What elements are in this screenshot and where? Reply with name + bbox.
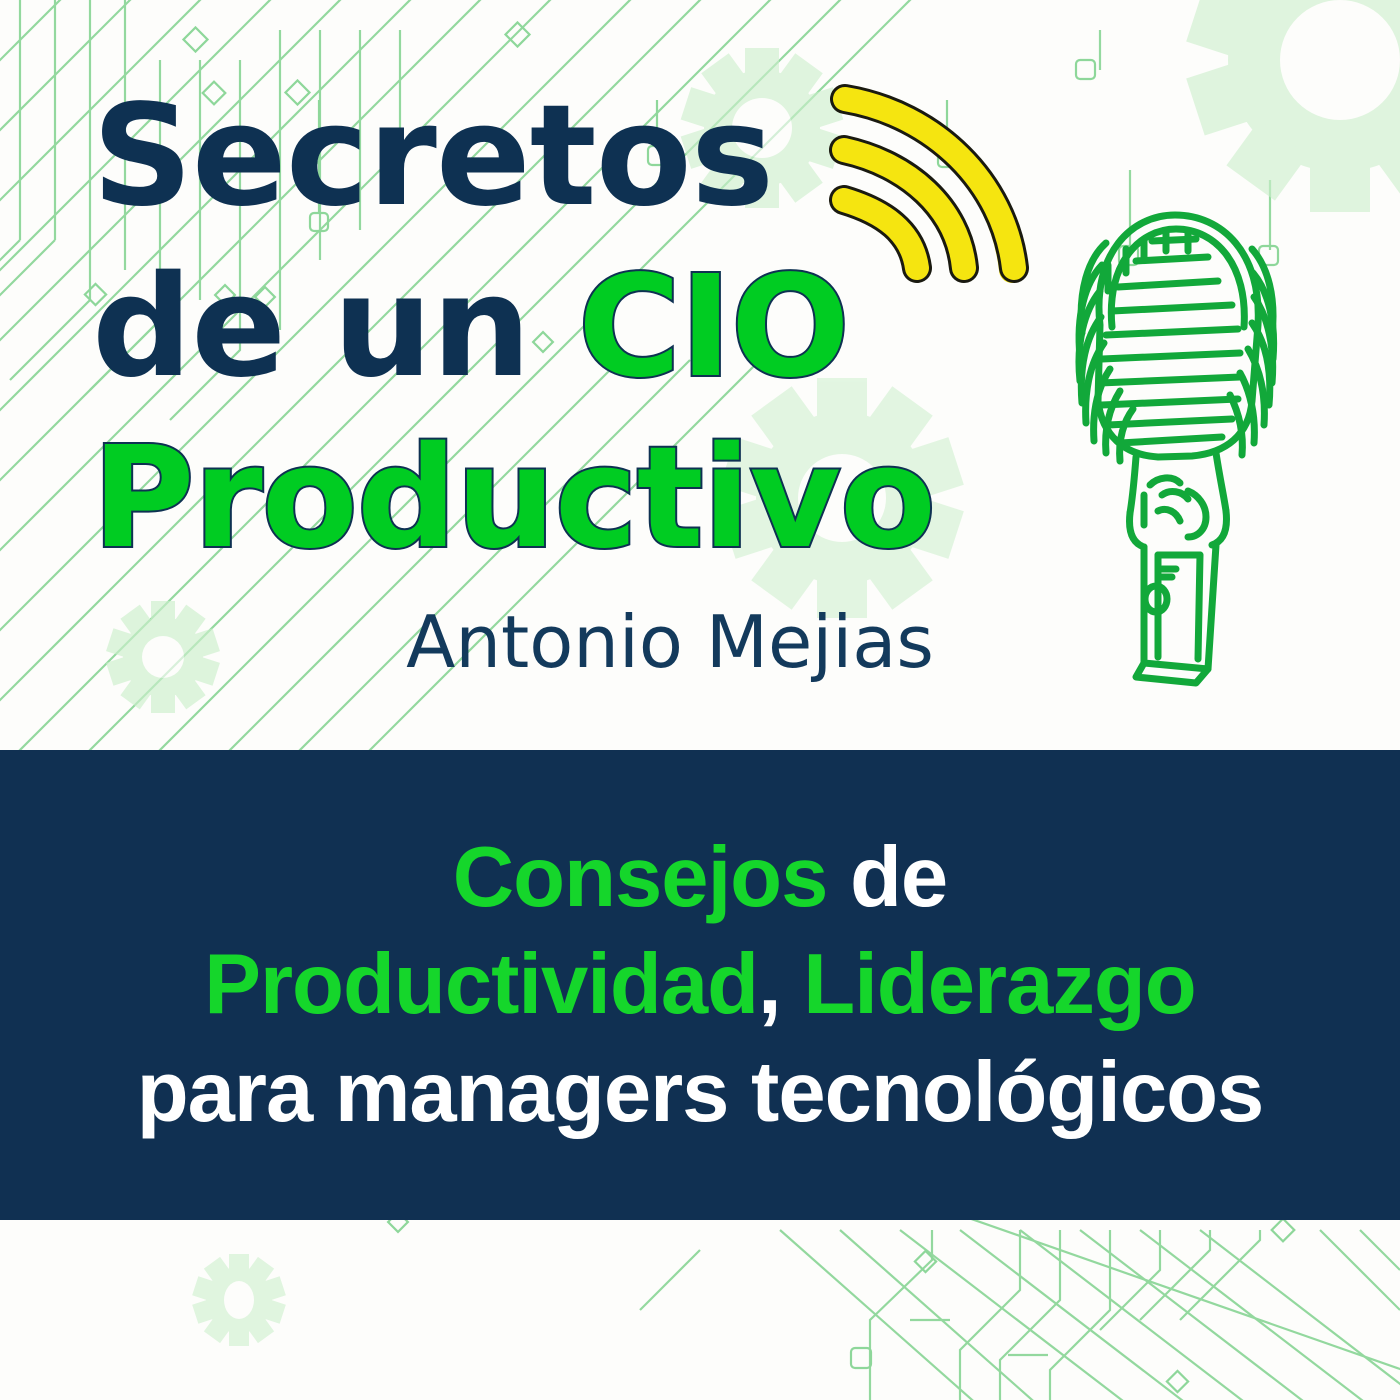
subtitle-banner: Consejos de Productividad, Liderazgo par… — [0, 750, 1400, 1220]
title-word-de-un: de un — [92, 246, 578, 409]
banner-word-productividad: Productividad — [204, 937, 758, 1032]
banner-word-de: de — [827, 830, 947, 925]
podcast-cover: Secretos de un CIO Productivo Antonio Me… — [0, 0, 1400, 1400]
title-word-productivo: Productivo — [92, 417, 935, 580]
title-word-cio: CIO — [578, 246, 849, 409]
retro-microphone-icon — [1040, 195, 1310, 695]
banner-comma: , — [758, 937, 781, 1032]
wifi-signal-waves-icon — [812, 72, 1062, 302]
banner-line-2: Productividad, Liderazgo — [14, 931, 1386, 1038]
banner-word-liderazgo: Liderazgo — [781, 937, 1196, 1032]
banner-word-managers: para managers tecnológicos — [137, 1045, 1264, 1140]
title-line-3: Productivo — [92, 414, 972, 585]
banner-word-consejos: Consejos — [453, 830, 828, 925]
banner-line-1: Consejos de — [14, 824, 1386, 931]
subtitle-banner-inner: Consejos de Productividad, Liderazgo par… — [0, 824, 1400, 1145]
banner-line-3: para managers tecnológicos — [14, 1039, 1386, 1146]
gear-bottom-left — [192, 1254, 286, 1346]
title-word-secretos: Secretos — [92, 75, 773, 238]
